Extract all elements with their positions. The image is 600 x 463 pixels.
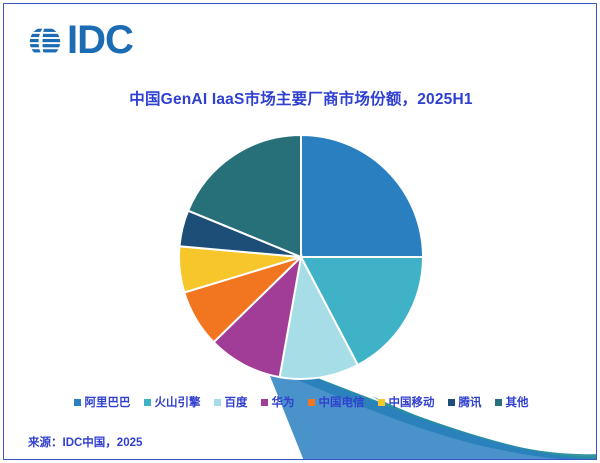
- legend-swatch-icon: [378, 399, 385, 406]
- legend-swatch-icon: [448, 399, 455, 406]
- slide-canvas: IDC 中国GenAI IaaS市场主要厂商市场份额，2025H1 阿里巴巴火山…: [0, 0, 600, 463]
- idc-globe-icon: [26, 23, 64, 61]
- legend-item-label: 阿里巴巴: [85, 394, 131, 410]
- legend-swatch-icon: [261, 399, 268, 406]
- source-note: 来源：IDC中国，2025: [28, 434, 142, 450]
- legend-swatch-icon: [144, 399, 151, 406]
- legend-item-label: 火山引擎: [155, 394, 201, 410]
- legend-swatch-icon: [308, 399, 315, 406]
- legend-item-label: 中国电信: [319, 394, 365, 410]
- legend-item[interactable]: 腾讯: [448, 394, 482, 410]
- legend-item[interactable]: 阿里巴巴: [74, 394, 131, 410]
- legend-item[interactable]: 中国电信: [308, 394, 365, 410]
- legend-item[interactable]: 华为: [261, 394, 295, 410]
- chart-legend: 阿里巴巴火山引擎百度华为中国电信中国移动腾讯其他: [4, 394, 597, 410]
- pie-slice: [301, 135, 423, 257]
- slide-frame: IDC 中国GenAI IaaS市场主要厂商市场份额，2025H1 阿里巴巴火山…: [3, 3, 597, 460]
- pie-chart: [4, 114, 597, 389]
- legend-item-label: 其他: [506, 394, 529, 410]
- idc-wordmark: IDC: [67, 20, 133, 60]
- legend-swatch-icon: [74, 399, 81, 406]
- legend-item[interactable]: 其他: [495, 394, 529, 410]
- legend-item[interactable]: 火山引擎: [144, 394, 201, 410]
- legend-swatch-icon: [214, 399, 221, 406]
- legend-item-label: 中国移动: [389, 394, 435, 410]
- pie-chart-svg: [161, 114, 441, 389]
- legend-item-label: 百度: [225, 394, 248, 410]
- idc-logo: IDC: [26, 22, 133, 62]
- legend-item[interactable]: 中国移动: [378, 394, 435, 410]
- legend-item-label: 腾讯: [459, 394, 482, 410]
- legend-swatch-icon: [495, 399, 502, 406]
- chart-title: 中国GenAI IaaS市场主要厂商市场份额，2025H1: [4, 87, 597, 109]
- legend-item[interactable]: 百度: [214, 394, 248, 410]
- legend-item-label: 华为: [272, 394, 295, 410]
